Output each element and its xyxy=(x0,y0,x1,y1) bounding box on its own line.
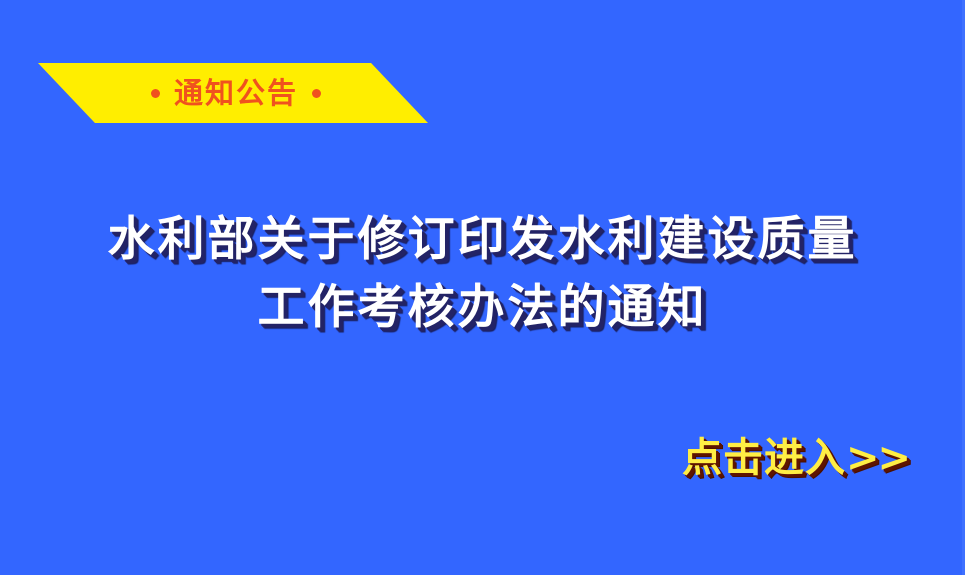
notice-banner-page: 通知公告 水利部关于修订印发水利建设质量 工作考核办法的通知 点击进入>> xyxy=(0,0,965,575)
click-to-enter-link[interactable]: 点击进入>> xyxy=(682,434,909,482)
banner-label: 通知公告 xyxy=(174,79,298,108)
page-title: 水利部关于修订印发水利建设质量 工作考核办法的通知 xyxy=(0,206,965,342)
banner-content: 通知公告 xyxy=(38,63,428,123)
banner-right-dot-icon xyxy=(312,89,321,98)
page-title-line-1: 水利部关于修订印发水利建设质量 xyxy=(0,206,965,274)
click-to-enter-label: 点击进入 xyxy=(682,434,846,481)
double-chevron-right-icon: >> xyxy=(846,434,909,481)
notice-category-banner: 通知公告 xyxy=(38,63,428,123)
banner-left-dot-icon xyxy=(151,89,160,98)
page-title-line-2: 工作考核办法的通知 xyxy=(0,274,965,342)
